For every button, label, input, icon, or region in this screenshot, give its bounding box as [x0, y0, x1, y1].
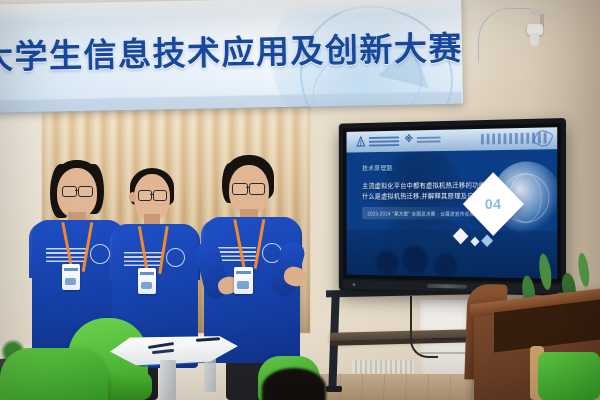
sponsor-name-text — [417, 137, 441, 144]
id-badge-barcode — [236, 271, 251, 274]
t-shirt-logo-icon — [90, 244, 110, 264]
slide-question-label: 技术原理题: — [362, 162, 394, 172]
slide-caption-text: 2023-2024 "某方案" 全国总决赛 · 云展进宣传视频 — [367, 211, 474, 218]
glasses-right-lens-icon — [153, 190, 167, 201]
ear — [129, 192, 136, 202]
tv-stand-foot — [326, 386, 342, 392]
id-badge-barcode — [140, 272, 154, 275]
glasses-bridge-icon — [75, 190, 78, 191]
university-name-text — [369, 136, 399, 146]
audience-head-foreground — [262, 368, 326, 400]
id-badge-logo-icon — [237, 281, 249, 289]
slide-number-text: 04 — [472, 181, 515, 226]
id-badge-logo-icon — [65, 278, 76, 285]
glasses-bridge-icon — [246, 187, 249, 188]
glasses-right-lens-icon — [78, 186, 93, 197]
green-chair-far-right[interactable] — [538, 352, 600, 400]
university-logo-icon — [355, 135, 366, 148]
id-badge-barcode — [64, 268, 78, 271]
glasses-left-lens-icon — [62, 186, 77, 197]
presentation-room-photo: 大学生信息技术应用及创新大赛 — [0, 0, 600, 400]
slide-header-band: ※ — [347, 127, 558, 152]
glasses-right-lens-icon — [249, 183, 265, 195]
glasses-bridge-icon — [150, 194, 153, 195]
partner-swoosh-icon — [532, 128, 553, 149]
slide-question-line-1: 主流虚拟化平台中都有虚拟机热迁移的功能, — [362, 181, 487, 191]
glasses-left-lens-icon — [138, 190, 152, 201]
camera-lens-icon — [530, 33, 539, 46]
sponsor-logo-icon: ※ — [404, 134, 415, 146]
glasses-left-lens-icon — [232, 183, 248, 195]
tv-power-led-icon — [353, 283, 356, 286]
t-shirt-logo-icon — [166, 248, 185, 267]
banner-title-text: 大学生信息技术应用及创新大赛 — [0, 22, 450, 79]
id-badge-logo-icon — [141, 282, 152, 289]
table-leg-front — [160, 360, 176, 400]
radiator — [352, 360, 414, 374]
green-chair-foreground[interactable] — [0, 348, 108, 400]
